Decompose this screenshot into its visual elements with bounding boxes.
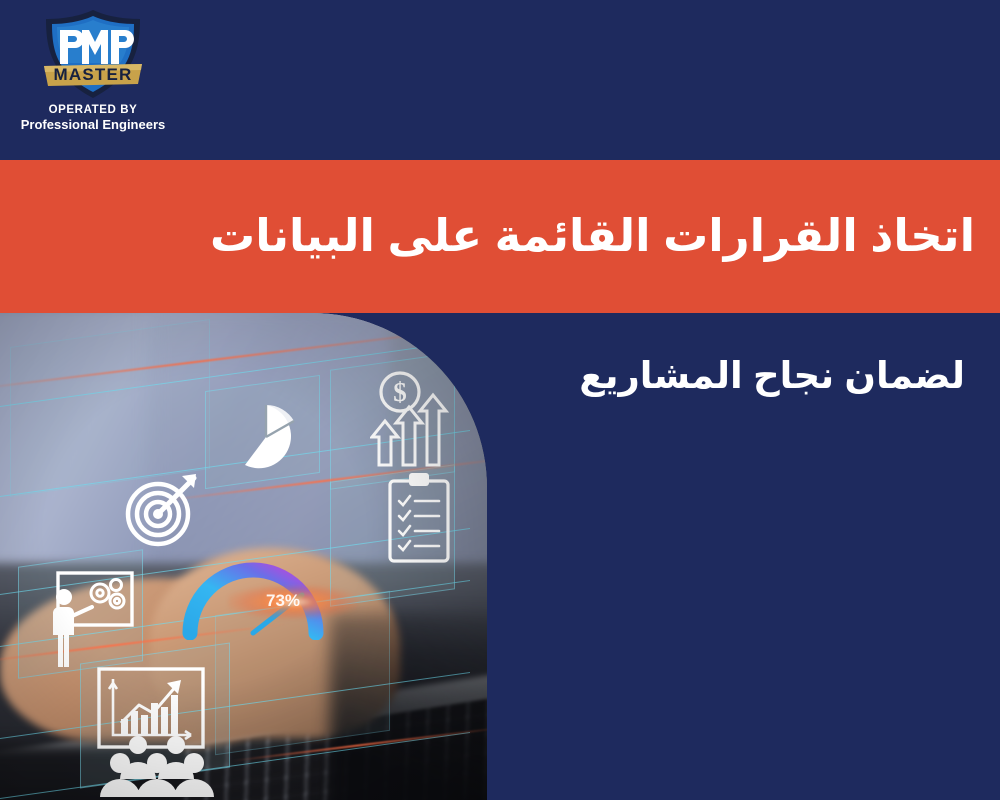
operated-by-label: OPERATED BY bbox=[18, 104, 168, 117]
hero-photo-inner: $ bbox=[0, 313, 487, 800]
pie-chart-icon bbox=[230, 401, 302, 473]
poster-canvas: MASTER OPERATED BY Professional Engineer… bbox=[0, 0, 1000, 800]
gauge-value-label: 73% bbox=[248, 591, 318, 611]
presenter-gears-icon bbox=[40, 571, 140, 675]
hero-photo: $ bbox=[0, 313, 487, 800]
organization-name: Professional Engineers bbox=[18, 117, 168, 133]
page-title: اتخاذ القرارات القائمة على البيانات bbox=[0, 208, 1000, 264]
brand-block: MASTER OPERATED BY Professional Engineer… bbox=[18, 8, 168, 133]
speedometer-gauge-icon bbox=[178, 535, 328, 640]
brand-header: MASTER OPERATED BY Professional Engineer… bbox=[0, 0, 1000, 160]
title-band: اتخاذ القرارات القائمة على البيانات bbox=[0, 160, 1000, 313]
svg-text:MASTER: MASTER bbox=[54, 65, 133, 84]
pmp-master-shield-logo: MASTER bbox=[34, 8, 152, 100]
people-group-icon bbox=[98, 733, 218, 797]
dollar-growth-arrows-icon: $ bbox=[370, 371, 452, 467]
clipboard-checklist-icon bbox=[380, 471, 458, 567]
svg-text:$: $ bbox=[393, 377, 407, 407]
page-subtitle: لضمان نجاح المشاريع bbox=[579, 352, 965, 400]
